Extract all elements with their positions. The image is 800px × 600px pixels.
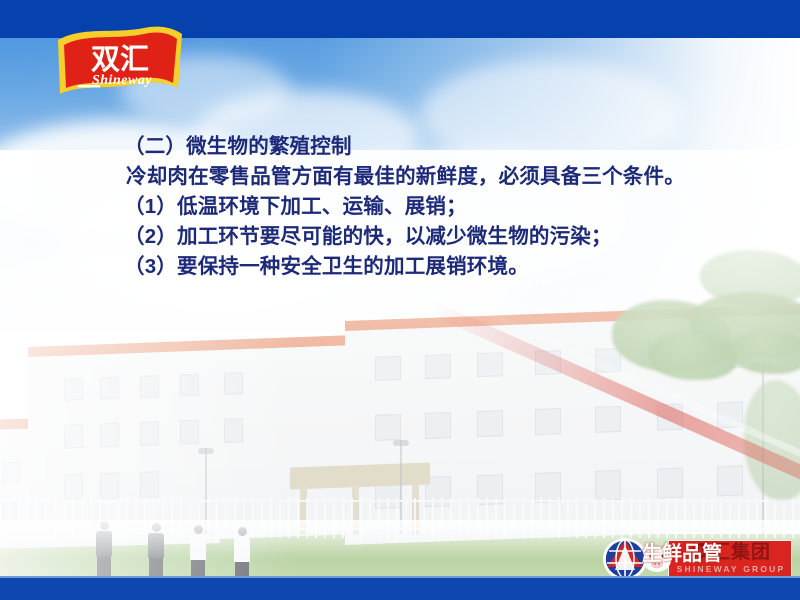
plate-overlay-chinese-text: 生鲜品管 (642, 542, 772, 566)
window (224, 418, 243, 443)
window (100, 423, 119, 448)
window (100, 377, 119, 400)
window (595, 470, 621, 501)
logo-cn-text: 双汇 (91, 42, 149, 76)
window (425, 412, 451, 439)
window (140, 421, 159, 446)
window (375, 356, 401, 381)
window (657, 468, 683, 499)
presentation-slide: 双汇 Shineway （二）微生物的繁殖控制 冷却肉在零售品管方面有最佳的新鲜… (0, 0, 800, 600)
window (64, 474, 83, 501)
window (224, 372, 243, 395)
street-lamp-head (198, 448, 214, 454)
bullet-item-3: （3）要保持一种安全卫生的加工展销环境。 (0, 252, 764, 282)
section-paragraph: 冷却肉在零售品管方面有最佳的新鲜度，必须具备三个条件。 (0, 162, 764, 192)
bottom-blue-bar (0, 578, 800, 600)
window (657, 404, 683, 431)
window (535, 408, 561, 435)
window (717, 401, 743, 428)
window (64, 378, 83, 401)
logo-en-text: Shineway (92, 73, 152, 88)
window (595, 348, 621, 373)
window (717, 465, 743, 496)
window (180, 420, 199, 445)
section-heading: （二）微生物的繁殖控制 (0, 132, 764, 162)
fence-rail (0, 500, 800, 502)
bullet-item-1: （1）低温环境下加工、运输、展销； (0, 192, 764, 222)
window (100, 473, 119, 500)
bullet-item-2: （2）加工环节要尽可能的快，以减少微生物的污染； (0, 222, 764, 252)
window (595, 406, 621, 433)
window (375, 414, 401, 441)
window (140, 375, 159, 398)
window (180, 374, 199, 397)
window (477, 410, 503, 437)
window (477, 352, 503, 377)
window (2, 462, 20, 482)
slide-text-content: （二）微生物的繁殖控制 冷却肉在零售品管方面有最佳的新鲜度，必须具备三个条件。 … (0, 132, 800, 282)
street-lamp-head (393, 440, 409, 446)
logo-underline (78, 85, 100, 87)
window (425, 354, 451, 379)
window (535, 350, 561, 375)
shineway-flag-logo: 双汇 Shineway (52, 22, 188, 104)
window (140, 471, 159, 498)
window (64, 424, 83, 449)
